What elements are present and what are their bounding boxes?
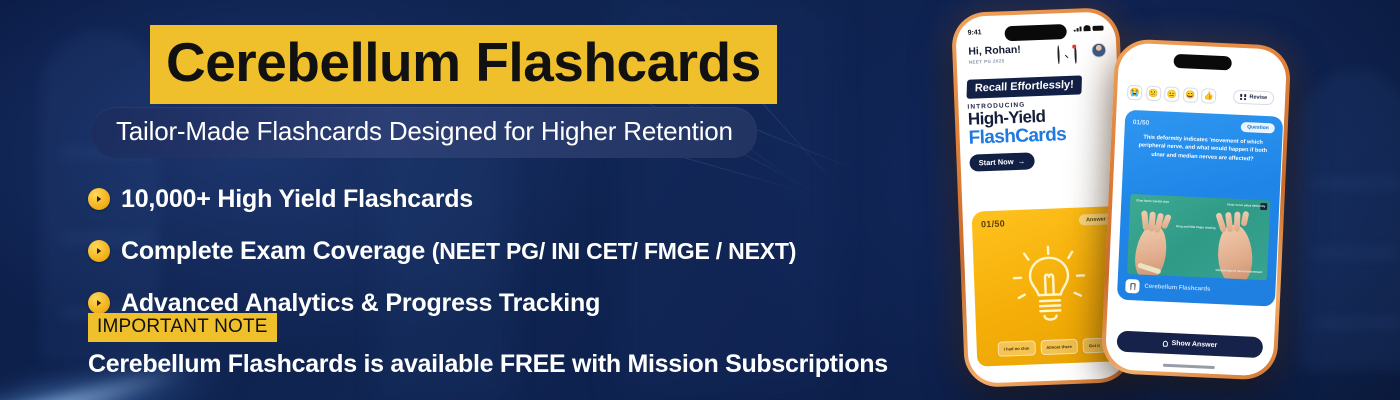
image-note-top-left: Claw hand / partial claw — [1136, 198, 1169, 204]
promo-banner: Cerebellum Flashcards Tailor-Made Flashc… — [0, 0, 1400, 400]
emoji-chip-confused[interactable]: 😕 — [1145, 86, 1161, 102]
list-item-label-main: Complete Exam Coverage — [121, 237, 432, 265]
important-note-block: IMPORTANT NOTE Cerebellum Flashcards is … — [88, 313, 888, 379]
greeting-text: Hi, Rohan! — [968, 45, 1021, 59]
phone2-screen: 😭 😕 😐 😄 👍 Revise 01/50 Question This def — [1105, 42, 1288, 376]
rating-button-no-clue[interactable]: I had no clue — [997, 340, 1035, 356]
page-title-wrap: Cerebellum Flashcards — [150, 25, 777, 104]
status-badge: IMPORTANT NOTE — [88, 313, 277, 342]
phone-mockups: 9:41 Hi, Rohan! NEET PG 2025 — [940, 0, 1400, 400]
wifi-icon — [1083, 25, 1090, 31]
feature-list: 10,000+ High Yield Flashcards Complete E… — [88, 178, 796, 334]
question-badge: Question — [1241, 122, 1275, 134]
bulb-icon — [1162, 340, 1167, 346]
list-item-label: 10,000+ High Yield Flashcards — [121, 185, 473, 214]
lightbulb-icon — [1011, 241, 1088, 335]
list-item: 10,000+ High Yield Flashcards — [88, 178, 796, 220]
emoji-chip-neutral[interactable]: 😐 — [1164, 86, 1180, 102]
hero-content: Cerebellum Flashcards Tailor-Made Flashc… — [0, 0, 940, 400]
rating-button-almost-there[interactable]: Almost there — [1040, 339, 1078, 355]
clinical-hands-image: Claw hand / partial claw Ulnar nerve pal… — [1127, 194, 1270, 280]
revise-button[interactable]: Revise — [1233, 90, 1275, 106]
emoji-chip-thumbsup[interactable]: 👍 — [1201, 88, 1217, 104]
flashcard-counter: 01/50 — [981, 218, 1005, 229]
list-item: Complete Exam Coverage (NEET PG/ INI CET… — [88, 230, 796, 272]
chevron-right-icon — [88, 240, 110, 262]
phone1-header: Hi, Rohan! NEET PG 2025 — [968, 41, 1107, 64]
status-time: 9:41 — [967, 29, 981, 37]
hero-subtitle: Tailor-Made Flashcards Designed for High… — [92, 107, 757, 158]
start-now-label: Start Now — [978, 157, 1013, 167]
question-card-footer: Cerebellum Flashcards — [1125, 279, 1211, 297]
hand-left — [1132, 223, 1171, 280]
promo-pill: Recall Effortlessly! — [966, 75, 1082, 98]
phone-mockup-question: 😭 😕 😐 😄 👍 Revise 01/50 Question This def — [1100, 38, 1291, 381]
show-answer-button[interactable]: Show Answer — [1116, 331, 1263, 359]
page-title: Cerebellum Flashcards — [150, 25, 777, 104]
bookmark-icon[interactable] — [1125, 279, 1140, 294]
emoji-chip-happy[interactable]: 😄 — [1182, 87, 1198, 103]
phone1-header-actions — [1057, 43, 1107, 60]
chevron-right-icon — [88, 188, 110, 210]
signal-icon — [1073, 25, 1081, 31]
question-counter: 01/50 — [1133, 119, 1150, 127]
promo-banner-card: Recall Effortlessly! INTRODUCING High-Yi… — [966, 73, 1114, 171]
image-note-middle: Ring and little finger clawing — [1176, 224, 1216, 230]
greeting-block: Hi, Rohan! NEET PG 2025 — [968, 45, 1021, 65]
grid-icon — [1240, 94, 1247, 101]
greeting-subtitle: NEET PG 2025 — [969, 57, 1022, 64]
question-card: 01/50 Question This deformity indicates … — [1117, 110, 1283, 307]
emoji-chip-cry[interactable]: 😭 — [1127, 85, 1143, 101]
battery-icon — [1092, 25, 1103, 30]
image-note-top-right: Ulnar nerve palsy deformity — [1227, 202, 1265, 208]
start-now-button[interactable]: Start Now → — [969, 152, 1034, 171]
home-indicator — [1163, 364, 1215, 369]
search-icon[interactable] — [1057, 46, 1068, 57]
revise-label: Revise — [1249, 94, 1267, 101]
chevron-right-icon — [88, 292, 110, 314]
promo-line-2: FlashCards — [968, 123, 1114, 148]
bell-icon[interactable] — [1074, 45, 1085, 56]
wrist-band — [1137, 262, 1161, 274]
avatar[interactable] — [1091, 43, 1107, 59]
phone2-notch — [1173, 54, 1232, 71]
phone1-notch — [1004, 24, 1067, 41]
question-source-label: Cerebellum Flashcards — [1144, 284, 1210, 293]
status-icons — [1073, 25, 1103, 32]
show-answer-label: Show Answer — [1171, 340, 1217, 349]
confidence-emoji-row: 😭 😕 😐 😄 👍 — [1127, 85, 1217, 104]
arrow-right-icon: → — [1017, 156, 1025, 165]
list-item-label: Complete Exam Coverage (NEET PG/ INI CET… — [121, 237, 796, 266]
flashcard-header: 01/50 Answer — [971, 206, 1122, 230]
important-note-text: Cerebellum Flashcards is available FREE … — [88, 350, 888, 379]
list-item-label-exams: (NEET PG/ INI CET/ FMGE / NEXT) — [432, 238, 796, 264]
